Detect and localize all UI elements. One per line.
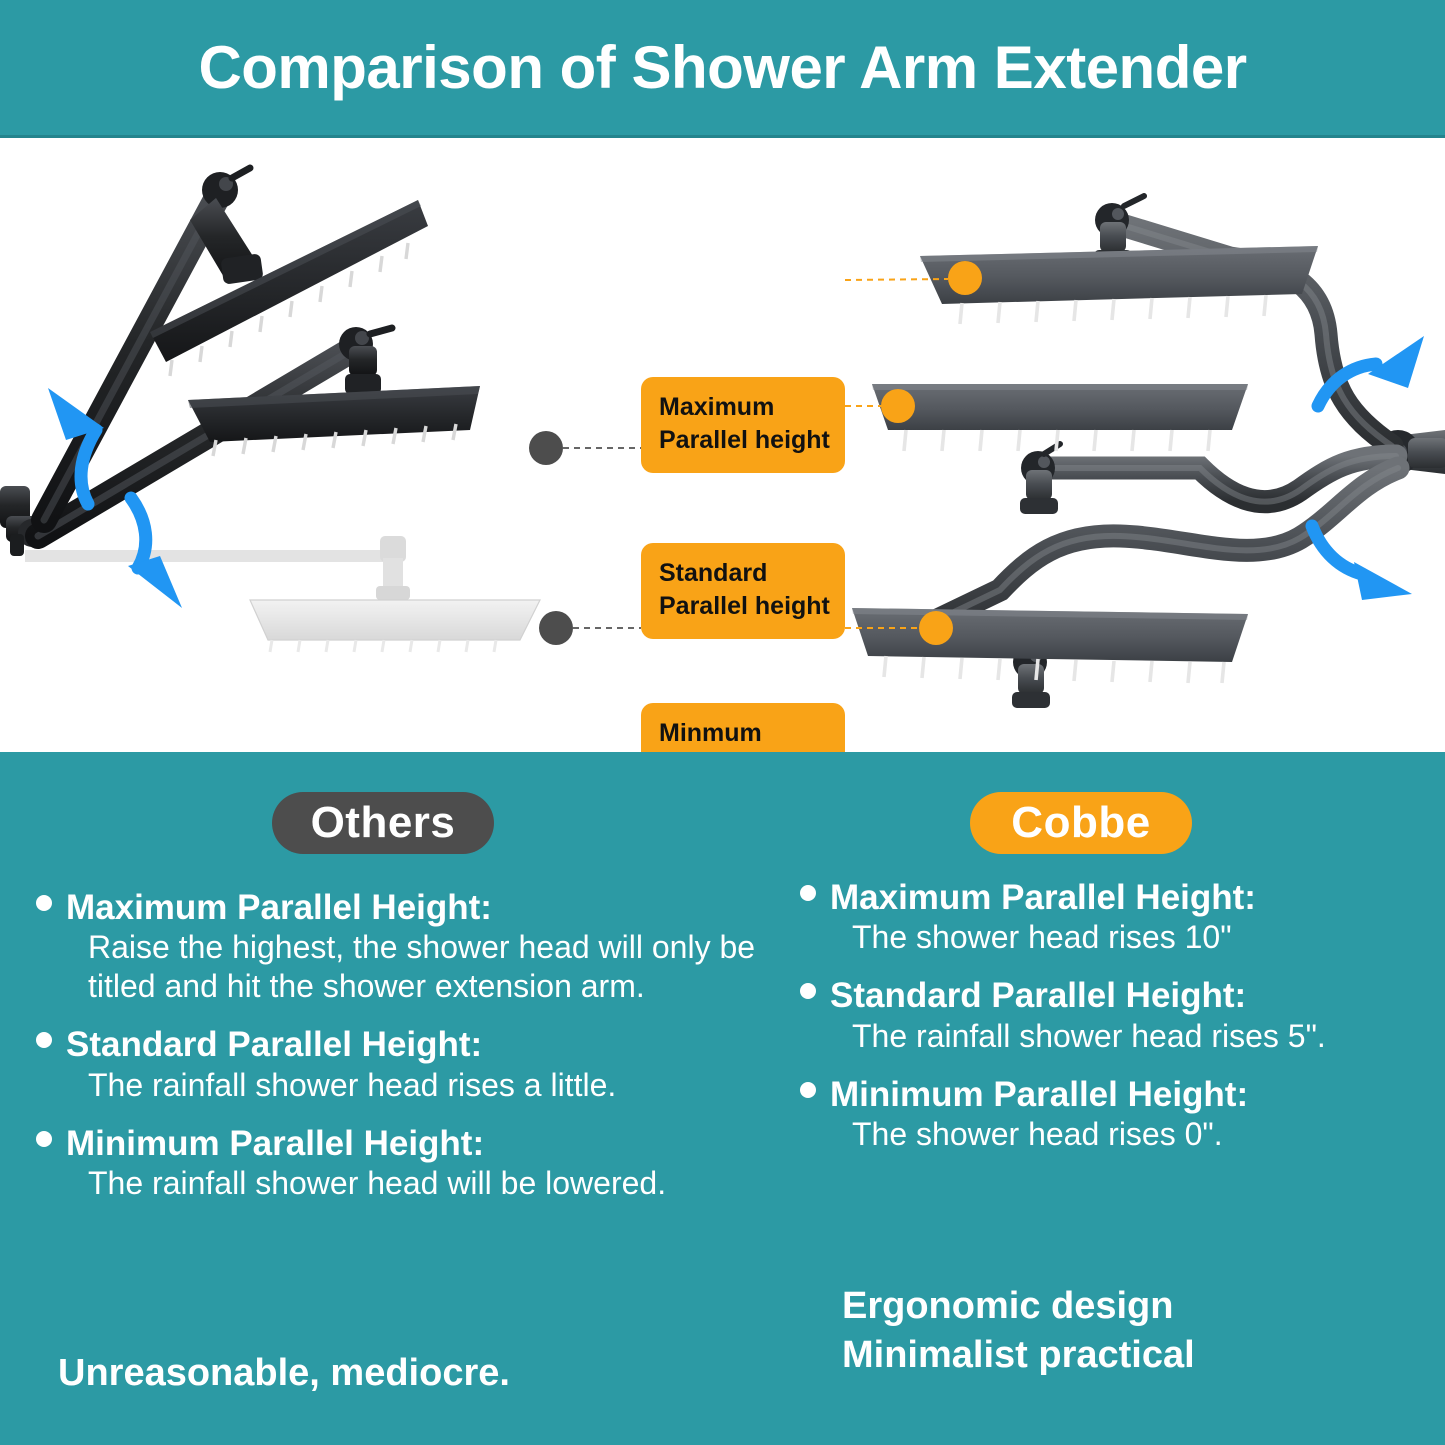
callout-maximum-line1: Maximum (659, 391, 827, 424)
callout-standard-line2: Parallel height (659, 590, 827, 623)
cobbe-arrow-down (1312, 526, 1412, 600)
bullet-title: Minimum Parallel Height: (66, 1123, 484, 1164)
bullet-dot-icon (800, 885, 816, 901)
list-item: Standard Parallel Height: The rainfall s… (800, 975, 1440, 1055)
list-item: Maximum Parallel Height: The shower head… (800, 877, 1440, 957)
bullet-title: Maximum Parallel Height: (830, 877, 1256, 918)
bullet-dot-icon (800, 1082, 816, 1098)
list-item: Standard Parallel Height: The rainfall s… (36, 1024, 766, 1104)
bullet-title-row: Maximum Parallel Height: (800, 877, 1440, 918)
page-title: Comparison of Shower Arm Extender (198, 38, 1246, 98)
bullet-title-row: Maximum Parallel Height: (36, 887, 766, 928)
cobbe-tagline-line1: Ergonomic design (842, 1282, 1195, 1331)
callout-minimum-parallel-height: Minmum Parallel height (641, 703, 845, 752)
bullet-body: The rainfall shower head rises a little. (88, 1066, 766, 1105)
bullet-title-row: Minimum Parallel Height: (800, 1074, 1440, 1115)
others-product-group (0, 168, 641, 652)
leader-standard-others (529, 431, 641, 465)
leader-minimum-others (539, 611, 641, 645)
marker-maximum (948, 261, 982, 295)
cobbe-tagline-line2: Minimalist practical (842, 1331, 1195, 1380)
callout-maximum-line2: Parallel height (659, 424, 827, 457)
callout-standard-parallel-height: Standard Parallel height (641, 543, 845, 639)
others-badge: Others (272, 792, 494, 854)
list-item: Minimum Parallel Height: The shower head… (800, 1074, 1440, 1154)
cobbe-arm-minimum (845, 468, 1398, 708)
others-bullet-list: Maximum Parallel Height: Raise the highe… (36, 887, 766, 1221)
bullet-body: The rainfall shower head will be lowered… (88, 1164, 766, 1203)
callout-minimum-line1: Minmum (659, 717, 827, 750)
cobbe-bullet-list: Maximum Parallel Height: The shower head… (800, 877, 1440, 1172)
list-item: Maximum Parallel Height: Raise the highe… (36, 887, 766, 1006)
others-tagline: Unreasonable, mediocre. (58, 1349, 510, 1398)
bullet-body: The rainfall shower head rises 5". (852, 1017, 1440, 1056)
infographic-page: Comparison of Shower Arm Extender (0, 0, 1445, 1445)
cobbe-badge: Cobbe (970, 792, 1192, 854)
callout-standard-line1: Standard (659, 557, 827, 590)
cobbe-tagline: Ergonomic design Minimalist practical (842, 1282, 1195, 1381)
bullet-title-row: Standard Parallel Height: (36, 1024, 766, 1065)
bullet-body: The shower head rises 10" (852, 918, 1440, 957)
bullet-title: Standard Parallel Height: (830, 975, 1246, 1016)
list-item: Minimum Parallel Height: The rainfall sh… (36, 1123, 766, 1203)
header-band: Comparison of Shower Arm Extender (0, 0, 1445, 135)
bullet-title-row: Minimum Parallel Height: (36, 1123, 766, 1164)
comparison-column-cobbe: Cobbe Maximum Parallel Height: The showe… (770, 752, 1445, 1445)
callout-maximum-parallel-height: Maximum Parallel height (641, 377, 845, 473)
comparison-panel: Others Maximum Parallel Height: Raise th… (0, 752, 1445, 1445)
bullet-body: The shower head rises 0". (852, 1115, 1440, 1154)
others-head-lowered (25, 536, 540, 652)
bullet-body: Raise the highest, the shower head will … (88, 928, 766, 1006)
bullet-dot-icon (36, 1032, 52, 1048)
cobbe-product-group (845, 196, 1445, 708)
bullet-dot-icon (800, 983, 816, 999)
bullet-title-row: Standard Parallel Height: (800, 975, 1440, 1016)
marker-standard (881, 389, 915, 423)
bullet-title: Standard Parallel Height: (66, 1024, 482, 1065)
bullet-title: Minimum Parallel Height: (830, 1074, 1248, 1115)
marker-minimum (919, 611, 953, 645)
bullet-title: Maximum Parallel Height: (66, 887, 492, 928)
comparison-column-others: Others Maximum Parallel Height: Raise th… (0, 752, 770, 1445)
bullet-dot-icon (36, 895, 52, 911)
bullet-dot-icon (36, 1131, 52, 1147)
illustration-panel: Maximum Parallel height Standard Paralle… (0, 138, 1445, 752)
